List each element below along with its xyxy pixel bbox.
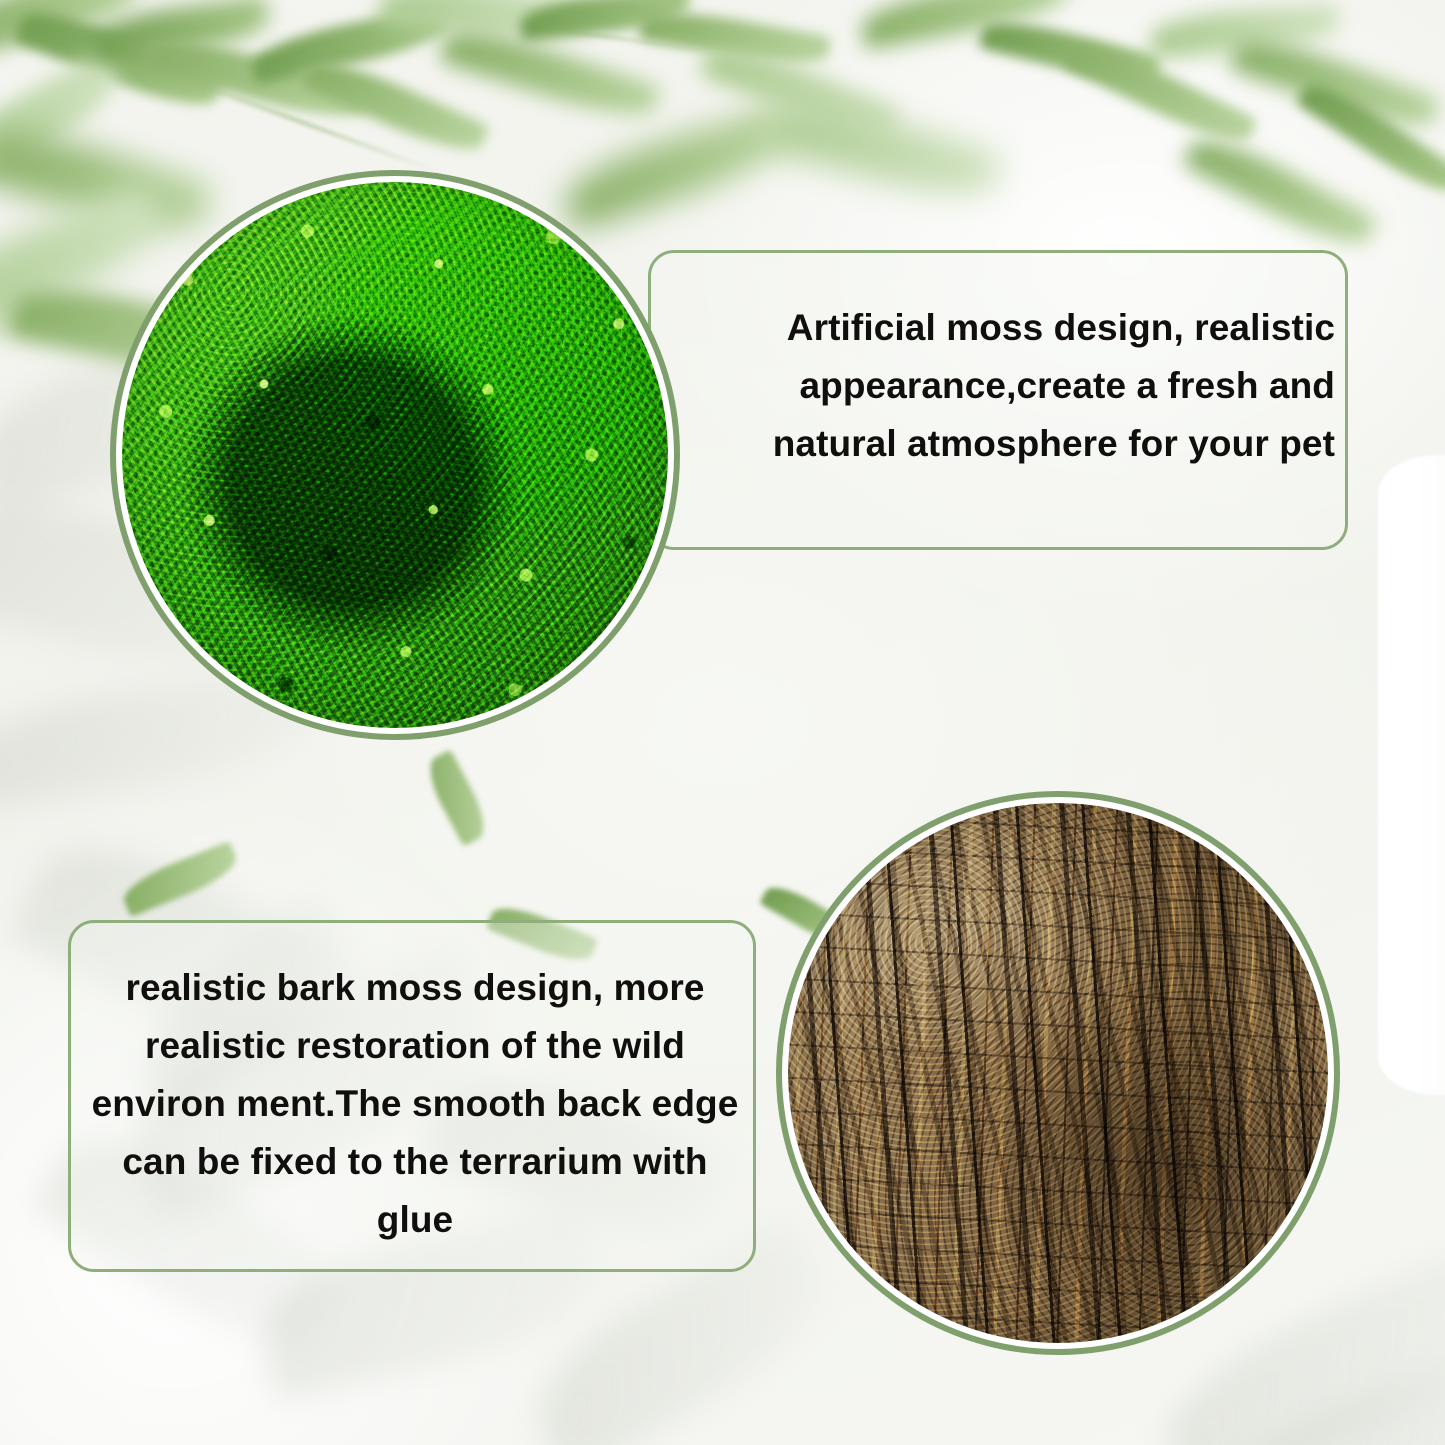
bamboo-leaf-icon <box>1229 27 1441 140</box>
bamboo-leaf-icon <box>978 13 1161 91</box>
infographic-canvas: Artificial moss design, realistic appear… <box>0 0 1445 1445</box>
moss-grain-texture <box>122 182 668 728</box>
bamboo-leaf-icon <box>1295 73 1445 204</box>
callout-bark: realistic bark moss design, more realist… <box>68 920 756 1272</box>
bark-grain-texture <box>788 803 1328 1343</box>
bamboo-leaf-icon <box>88 0 272 64</box>
bamboo-leaf-icon <box>699 34 901 150</box>
floating-leaf-icon <box>420 749 493 846</box>
moss-photo <box>122 182 668 728</box>
bamboo-leaf-icon <box>148 28 371 129</box>
callout-bark-text: realistic bark moss design, more realist… <box>89 959 741 1249</box>
bamboo-leaf-icon <box>858 0 1072 50</box>
cylinder-highlight-icon <box>1384 470 1410 1080</box>
bamboo-branch-icon <box>431 11 709 53</box>
bamboo-leaf-icon <box>1062 32 1258 154</box>
bamboo-leaf-icon <box>1181 126 1378 259</box>
bamboo-leaf-icon <box>300 49 490 163</box>
bamboo-leaf-icon <box>439 19 662 129</box>
bamboo-branch-icon <box>0 10 307 82</box>
bamboo-branch-icon <box>159 69 442 174</box>
bark-photo <box>788 803 1328 1343</box>
bamboo-leaf-icon <box>0 0 145 58</box>
floating-leaf-icon <box>118 841 242 917</box>
callout-moss-text: Artificial moss design, realistic appear… <box>713 299 1335 473</box>
callout-moss: Artificial moss design, realistic appear… <box>648 250 1348 550</box>
bamboo-leaf-icon <box>378 0 592 47</box>
bamboo-leaf-icon <box>519 0 692 41</box>
bamboo-leaf-icon <box>1149 3 1341 58</box>
bamboo-leaf-icon <box>13 0 225 120</box>
bamboo-leaf-icon <box>638 4 831 72</box>
bamboo-leaf-icon <box>0 50 130 197</box>
bamboo-leaf-icon <box>248 4 452 85</box>
product-cylinder <box>1378 455 1445 1095</box>
bamboo-leaf-icon <box>756 88 1003 212</box>
